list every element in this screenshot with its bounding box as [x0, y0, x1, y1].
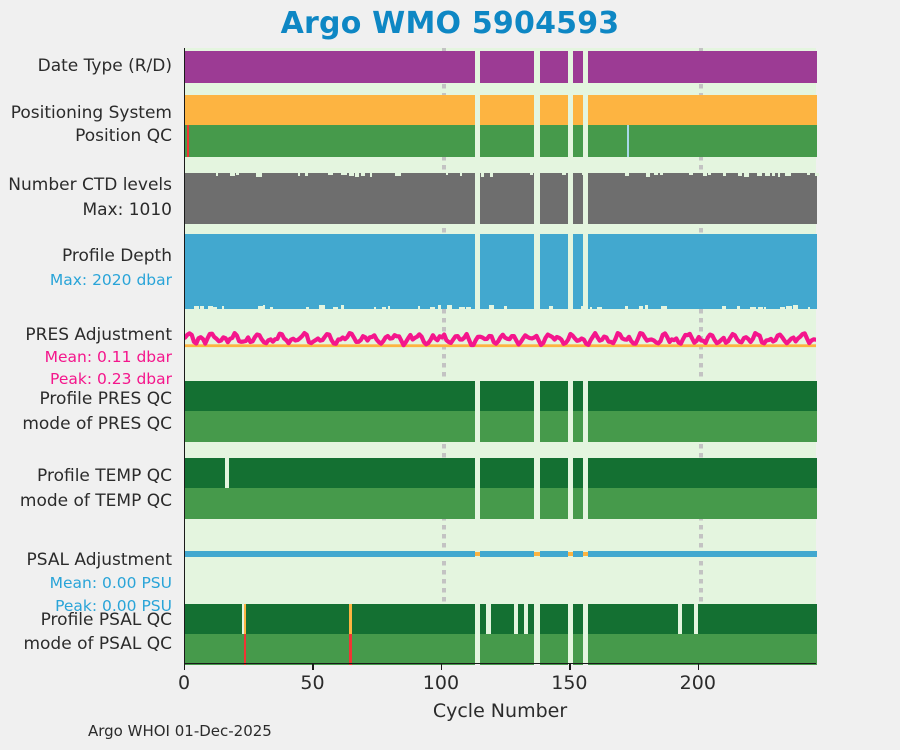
bar-segment — [588, 173, 817, 224]
bar-segment — [573, 411, 583, 442]
bar-segment — [480, 604, 485, 634]
bar-edge-notch — [785, 173, 791, 176]
row-label-profile-depth: Max: 2020 dbar — [50, 270, 172, 290]
bar-segment — [588, 634, 817, 665]
bar-edge-notch — [382, 307, 386, 309]
bar-edge-notch — [213, 307, 217, 309]
x-axis-line — [184, 663, 816, 664]
figure-footer: Argo WHOI 01-Dec-2025 — [88, 722, 272, 740]
bar-edge-notch — [689, 173, 693, 175]
bar-edge-notch — [349, 173, 355, 176]
bar-edge-notch — [460, 173, 462, 176]
bar-edge-notch — [328, 173, 334, 175]
bar-segment — [480, 173, 534, 224]
bar-segment — [540, 173, 568, 224]
bar-edge-notch — [757, 173, 762, 176]
qc-flag-mark — [187, 125, 189, 157]
row-label-position-qc: Position QC — [75, 126, 172, 146]
row-label-pres-adjustment: Mean: 0.11 dbar — [45, 347, 172, 367]
bar-edge-notch — [808, 307, 810, 309]
bar-segment — [480, 381, 534, 411]
bar-edge-notch — [256, 173, 262, 177]
bar-edge-notch — [793, 305, 797, 309]
adjustment-gap-marker — [475, 552, 480, 556]
bar-segment — [185, 411, 475, 442]
row-label-profile-psal-qc: Profile PSAL QC — [41, 610, 172, 630]
bar-edge-notch — [418, 306, 420, 309]
bar-edge-notch — [722, 306, 726, 309]
row-label-number-ctd-levels: Max: 1010 — [82, 200, 172, 220]
bar-segment — [185, 488, 475, 519]
bar-edge-notch — [654, 173, 659, 175]
bar-edge-notch — [738, 173, 742, 176]
bar-edge-notch — [459, 307, 465, 309]
bar-segment — [573, 125, 583, 157]
bar-segment — [540, 381, 568, 411]
bar-edge-notch — [737, 306, 740, 309]
bar-edge-notch — [447, 305, 452, 309]
row-label-column: Date Type (R/D)Positioning SystemPositio… — [0, 48, 178, 663]
bar-segment — [185, 51, 475, 83]
bar-edge-notch — [744, 173, 750, 177]
data-row-profile-depth — [185, 234, 816, 309]
bar-edge-notch — [765, 173, 771, 176]
bar-segment — [588, 458, 817, 488]
row-label-mode-of-pres-qc: mode of PRES QC — [22, 414, 172, 434]
bar-edge-notch — [708, 173, 711, 175]
bar-segment — [480, 51, 534, 83]
row-label-profile-pres-qc: Profile PRES QC — [39, 389, 172, 409]
data-row-number-ctd-levels — [185, 173, 816, 224]
bar-segment — [573, 381, 583, 411]
bar-edge-notch — [562, 173, 566, 175]
bar-segment — [480, 234, 534, 309]
x-axis-title: Cycle Number — [184, 700, 816, 722]
adjustment-gap-marker — [534, 552, 539, 556]
page-title: Argo WMO 5904593 — [0, 6, 900, 41]
bar-edge-notch — [778, 173, 780, 177]
bar-edge-notch — [341, 173, 347, 175]
bar-edge-notch — [597, 307, 603, 309]
bar-edge-notch — [758, 307, 763, 309]
bar-edge-notch — [230, 173, 235, 176]
bar-segment — [540, 488, 568, 519]
bar-segment — [185, 173, 475, 224]
row-label-number-ctd-levels: Number CTD levels — [8, 175, 172, 195]
bar-edge-notch — [504, 306, 508, 309]
bar-edge-notch — [645, 305, 648, 309]
bar-segment — [185, 381, 475, 411]
bar-segment — [540, 234, 568, 309]
bar-segment — [245, 604, 475, 634]
data-row-profile-pres-qc — [185, 381, 816, 411]
data-row-date-type — [185, 51, 816, 83]
bar-segment — [528, 604, 534, 634]
row-label-positioning-system: Positioning System — [11, 103, 172, 123]
bar-segment — [540, 95, 568, 125]
bar-edge-notch — [780, 307, 786, 309]
bar-segment — [480, 411, 534, 442]
bar-edge-notch — [590, 307, 593, 309]
bar-segment — [573, 234, 583, 309]
bar-segment — [185, 458, 225, 488]
data-row-psal-adjustment — [185, 548, 816, 560]
bar-edge-notch — [258, 306, 263, 309]
bar-segment — [185, 125, 475, 157]
qc-flag-mark — [244, 634, 246, 665]
bar-edge-notch — [200, 306, 204, 309]
bar-edge-notch — [625, 173, 629, 176]
bar-edge-notch — [750, 307, 755, 309]
bar-segment — [573, 634, 583, 665]
row-label-pres-adjustment: PRES Adjustment — [25, 325, 172, 345]
bar-edge-notch — [438, 305, 440, 309]
qc-flag-mark — [627, 125, 629, 157]
bar-segment — [540, 634, 568, 665]
bar-edge-notch — [723, 173, 726, 176]
bar-edge-notch — [807, 173, 810, 175]
bar-segment — [518, 604, 524, 634]
adjustment-baseline — [185, 344, 816, 347]
bar-edge-notch — [815, 173, 819, 176]
data-row-position-qc — [185, 125, 816, 157]
bar-segment — [588, 411, 817, 442]
bar-segment — [573, 51, 583, 83]
bar-segment — [573, 173, 583, 224]
bar-segment — [185, 634, 475, 665]
row-label-date-type: Date Type (R/D) — [38, 56, 172, 76]
x-tick — [184, 663, 185, 670]
data-row-profile-psal-qc — [185, 604, 816, 634]
row-label-mode-of-temp-qc: mode of TEMP QC — [20, 491, 172, 511]
bar-edge-notch — [625, 306, 628, 309]
bar-edge-notch — [208, 306, 213, 309]
bar-segment — [540, 604, 568, 634]
qc-flag-mark — [349, 634, 351, 665]
bar-segment — [480, 95, 534, 125]
bar-segment — [480, 634, 534, 665]
bar-edge-notch — [370, 173, 373, 177]
bar-segment — [573, 458, 583, 488]
x-tick-label: 100 — [423, 672, 459, 694]
bar-segment — [480, 488, 534, 519]
bar-edge-notch — [661, 306, 667, 309]
bar-edge-notch — [361, 173, 365, 176]
x-tick-label: 50 — [300, 672, 324, 694]
adjustment-gap-marker — [583, 552, 588, 556]
bar-edge-notch — [236, 173, 239, 175]
bar-segment — [588, 604, 678, 634]
bar-edge-notch — [639, 306, 644, 309]
plot-area — [184, 48, 816, 663]
data-row-mode-of-psal-qc — [185, 634, 816, 665]
x-tick — [312, 663, 313, 670]
bar-edge-notch — [194, 306, 199, 309]
bar-edge-notch — [764, 307, 766, 309]
bar-edge-notch — [490, 173, 493, 177]
bar-edge-notch — [481, 173, 484, 177]
bar-segment — [540, 411, 568, 442]
bar-segment — [588, 488, 817, 519]
bar-edge-notch — [582, 173, 585, 175]
bar-segment — [573, 95, 583, 125]
bar-segment — [185, 604, 242, 634]
bar-segment — [480, 125, 534, 157]
bar-edge-notch — [222, 306, 225, 309]
pres-adjustment-plot — [185, 318, 816, 360]
adjustment-trace — [185, 333, 816, 345]
bar-edge-notch — [581, 306, 587, 309]
data-row-pres-adjustment — [185, 318, 816, 360]
x-tick — [441, 663, 442, 670]
qc-flag-mark — [349, 604, 351, 634]
bar-edge-notch — [319, 305, 325, 309]
bar-edge-notch — [430, 307, 435, 309]
bar-edge-notch — [466, 307, 471, 309]
row-label-pres-adjustment: Peak: 0.23 dbar — [50, 369, 172, 389]
adjustment-line — [480, 551, 534, 557]
bar-segment — [588, 95, 817, 125]
bar-segment — [588, 234, 817, 309]
x-tick — [569, 663, 570, 670]
adjustment-line — [540, 551, 568, 557]
bar-edge-notch — [646, 173, 650, 177]
bar-segment — [185, 234, 475, 309]
bar-segment — [229, 458, 476, 488]
bar-edge-notch — [355, 173, 358, 177]
bar-edge-notch — [263, 305, 265, 309]
bar-edge-notch — [530, 173, 533, 175]
qc-flag-mark — [244, 604, 246, 634]
data-row-positioning-system — [185, 95, 816, 125]
bar-edge-notch — [489, 305, 494, 309]
bar-segment — [573, 604, 583, 634]
bar-segment — [588, 381, 817, 411]
x-tick-label: 200 — [680, 672, 716, 694]
adjustment-gap-marker — [568, 552, 573, 556]
bar-edge-notch — [388, 306, 390, 309]
data-row-mode-of-temp-qc — [185, 488, 816, 519]
data-row-profile-temp-qc — [185, 458, 816, 488]
bar-segment — [588, 125, 817, 157]
bar-edge-notch — [786, 306, 792, 309]
row-label-profile-temp-qc: Profile TEMP QC — [37, 466, 172, 486]
bar-segment — [682, 604, 694, 634]
bar-segment — [540, 125, 568, 157]
bar-segment — [540, 51, 568, 83]
bar-edge-notch — [395, 173, 401, 176]
bar-segment — [698, 604, 817, 634]
x-tick-label: 150 — [551, 672, 587, 694]
bar-edge-notch — [374, 307, 376, 310]
bar-segment — [588, 51, 817, 83]
x-tick — [698, 663, 699, 670]
x-tick-label: 0 — [178, 672, 190, 694]
bar-edge-notch — [333, 307, 338, 309]
bar-edge-notch — [549, 306, 552, 309]
bar-segment — [573, 488, 583, 519]
bar-edge-notch — [446, 173, 448, 175]
bar-edge-notch — [270, 307, 273, 309]
adjustment-line — [573, 551, 583, 557]
bar-segment — [480, 458, 534, 488]
argo-float-summary-figure: Argo WMO 5904593 Date Type (R/D)Position… — [0, 0, 900, 750]
bar-edge-notch — [298, 173, 300, 176]
bar-segment — [185, 95, 475, 125]
adjustment-line — [588, 551, 817, 557]
bar-edge-notch — [703, 173, 707, 176]
bar-edge-notch — [306, 307, 309, 309]
adjustment-line — [185, 551, 475, 557]
bar-edge-notch — [305, 173, 308, 176]
row-label-profile-depth: Profile Depth — [62, 246, 172, 266]
bar-edge-notch — [216, 173, 219, 176]
row-label-psal-adjustment: PSAL Adjustment — [27, 550, 172, 570]
row-label-mode-of-psal-qc: mode of PSAL QC — [23, 634, 172, 654]
data-row-mode-of-pres-qc — [185, 411, 816, 442]
bar-edge-notch — [772, 173, 775, 176]
bar-segment — [491, 604, 514, 634]
row-label-psal-adjustment: Mean: 0.00 PSU — [50, 573, 172, 593]
bar-segment — [540, 458, 568, 488]
bar-edge-notch — [660, 173, 664, 175]
bar-edge-notch — [341, 305, 344, 309]
